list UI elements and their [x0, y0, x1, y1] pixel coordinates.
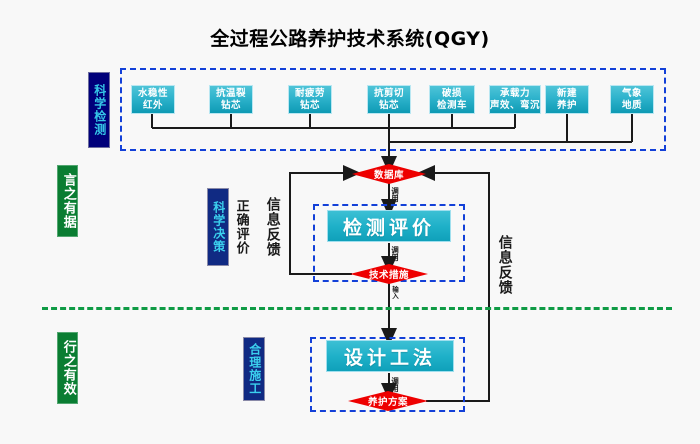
feedback-label-left: 信息反馈	[262, 192, 282, 262]
sensor-line2: 钻芯	[221, 100, 241, 112]
sensor-line2: 地质	[622, 100, 642, 112]
feedback-label-right: 信息反馈	[494, 230, 514, 300]
sensor-box-8[interactable]: 气象 地质	[610, 85, 654, 114]
sensor-line1: 气象	[622, 88, 642, 100]
sensor-line1: 抗剪切	[374, 88, 404, 100]
sensor-line1: 水稳性	[138, 88, 168, 100]
sensor-line1: 新建	[557, 88, 577, 100]
edge-label-call-2: 调用	[391, 246, 399, 261]
maintenance-plan-label: 养护方案	[348, 391, 428, 411]
principle-label-lower: 行之有效	[57, 332, 78, 404]
sensor-line2: 声效、弯沉	[490, 100, 540, 112]
page-title: 全过程公路养护技术系统(QGY)	[0, 24, 700, 51]
stage-label-construction: 合理施工	[243, 337, 265, 401]
sensor-box-5[interactable]: 破损 检测车	[429, 85, 475, 114]
design-method-process-box[interactable]: 设计工法	[326, 340, 454, 372]
stage-label-decision: 科学决策	[207, 188, 229, 266]
diagram-canvas: 全过程公路养护技术系统(QGY)	[0, 0, 700, 444]
measures-label: 技术措施	[350, 264, 428, 284]
sensor-line2: 养护	[557, 100, 577, 112]
maintenance-plan-diamond[interactable]: 养护方案	[348, 391, 428, 411]
sensor-line1: 承载力	[500, 88, 530, 100]
database-diamond[interactable]: 数据库	[352, 164, 426, 184]
sensor-line1: 耐疲劳	[295, 88, 325, 100]
database-label: 数据库	[352, 164, 426, 184]
measures-diamond[interactable]: 技术措施	[350, 264, 428, 284]
sensor-box-4[interactable]: 抗剪切 钻芯	[367, 85, 411, 114]
principle-label-upper: 言之有据	[57, 165, 78, 237]
edge-label-input: 输入	[391, 286, 398, 299]
sensor-box-7[interactable]: 新建 养护	[545, 85, 589, 114]
edge-label-call-1: 调用	[391, 187, 399, 202]
sensor-line2: 钻芯	[300, 100, 320, 112]
sensor-line1: 抗温裂	[216, 88, 246, 100]
sensor-line2: 检测车	[437, 100, 467, 112]
sensor-line2: 钻芯	[379, 100, 399, 112]
sensor-box-6[interactable]: 承载力 声效、弯沉	[489, 85, 541, 114]
decision-sublabel: 正确评价	[231, 188, 250, 266]
stage-divider	[42, 307, 672, 310]
evaluation-process-box[interactable]: 检测评价	[327, 210, 451, 242]
sensor-box-2[interactable]: 抗温裂 钻芯	[209, 85, 253, 114]
sensor-line1: 破损	[442, 88, 462, 100]
sensor-line2: 红外	[143, 100, 163, 112]
stage-label-detection: 科学检测	[88, 72, 110, 148]
sensor-box-1[interactable]: 水稳性 红外	[131, 85, 175, 114]
sensor-box-3[interactable]: 耐疲劳 钻芯	[288, 85, 332, 114]
